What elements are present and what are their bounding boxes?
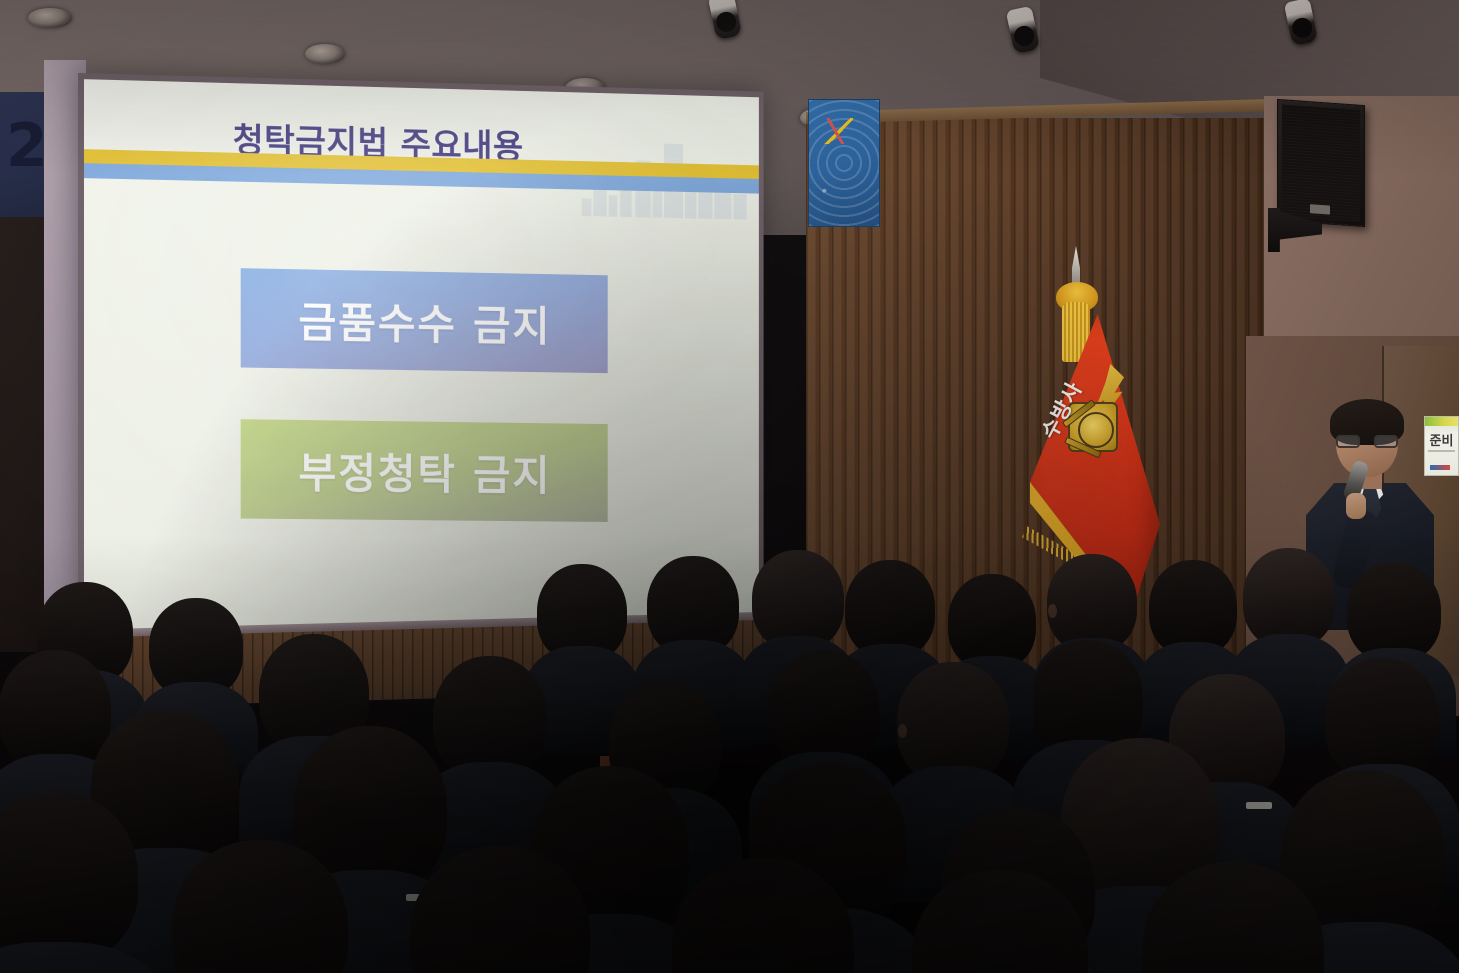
slide-box-prohibit-gifts: 금품수수 금지 — [241, 268, 608, 373]
audience-head — [752, 550, 844, 650]
audience-ear — [1048, 604, 1057, 618]
auditorium-scene: 2 준비 — [0, 0, 1459, 973]
glasses-icon — [1336, 435, 1398, 448]
presenter-hand — [1346, 493, 1366, 519]
ceiling-downlight — [28, 8, 72, 28]
audience-member — [900, 870, 1100, 973]
wall-speaker — [1277, 99, 1365, 227]
audience-member — [0, 792, 150, 973]
banner-logo-icon — [819, 118, 853, 144]
audience-member — [398, 846, 602, 973]
audience-member — [160, 840, 360, 973]
audience-head — [1243, 548, 1335, 648]
slide-box-prohibit-solicitation: 부정청탁 금지 — [241, 419, 608, 522]
audience — [0, 540, 1459, 973]
wall-poster-glyph: 2 — [6, 116, 48, 176]
wall-banner-poster — [808, 99, 880, 227]
speaker-brand-badge — [1310, 204, 1330, 214]
audience-head — [0, 792, 138, 964]
audience-member — [1130, 862, 1336, 973]
audience-head — [410, 846, 590, 973]
audience-head — [1347, 562, 1441, 662]
audience-member — [660, 858, 866, 973]
audience-ear — [898, 724, 907, 738]
audience-body — [0, 942, 170, 973]
audience-head — [672, 858, 854, 973]
audience-collar — [1246, 802, 1272, 809]
audience-head — [1142, 862, 1324, 973]
audience-head — [172, 840, 348, 973]
audience-head — [912, 870, 1088, 973]
ceiling-downlight — [305, 44, 345, 64]
flag-pole-finial-icon — [1072, 246, 1080, 286]
